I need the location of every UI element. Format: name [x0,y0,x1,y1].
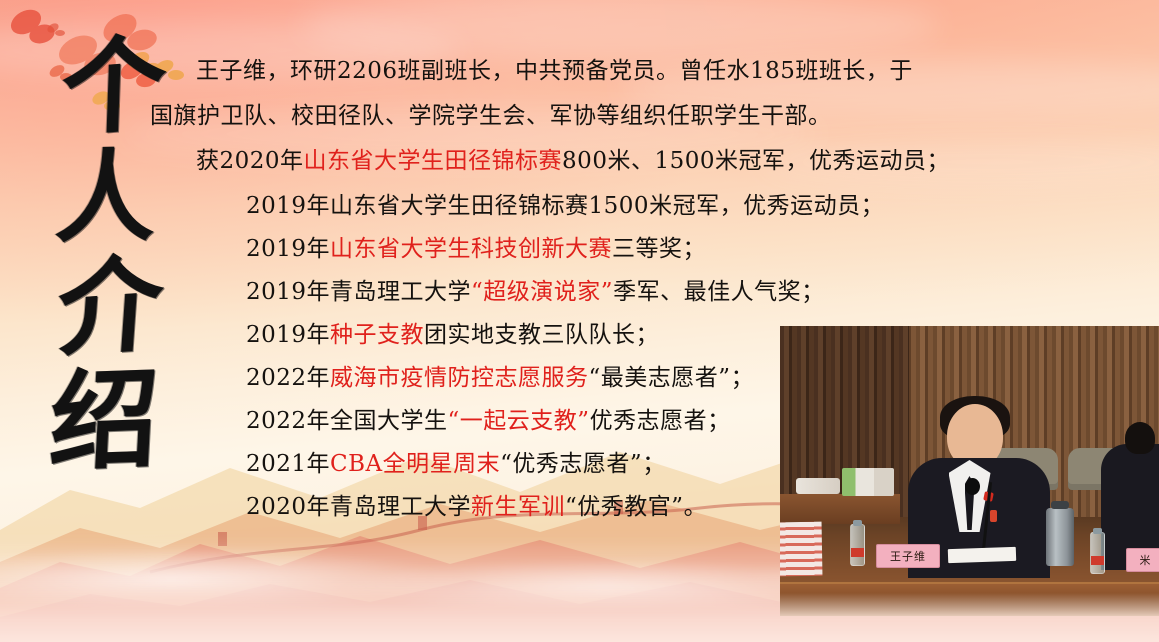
award-suffix: 三等奖； [612,236,706,262]
water-bottle [850,524,865,566]
microphone-icon [965,478,980,495]
name-plate-secondary: 米 [1126,548,1159,572]
neighbor-head [1125,422,1155,454]
award-suffix: “优秀教官”。 [565,494,707,520]
award-prefix: 2019年山东省大学生田径锦标赛1500米冠军，优秀运动员； [246,193,884,219]
award-suffix: “优秀志愿者”； [500,451,666,477]
award-prefix: 2019年青岛理工大学 [246,279,471,305]
name-plate-secondary-text: 米 [1140,552,1151,568]
papers [948,547,1016,563]
award-suffix: 季军、最佳人气奖； [613,279,825,305]
lapel-badge-icon [990,510,997,522]
award-suffix: 优秀志愿者； [590,408,731,434]
award-suffix: “最美志愿者”； [589,365,755,391]
award-highlight: “超级演说家” [471,279,613,305]
award-prefix: 获2020年 [196,148,304,174]
award-highlight: 种子支教 [330,322,424,348]
award-prefix: 2019年 [246,322,330,348]
award-highlight: 山东省大学生田径锦标赛 [304,148,563,174]
side-cabinet [780,494,900,524]
award-prefix: 2021年 [246,451,330,477]
thermos [1046,508,1074,566]
intro-line-1: 王子维，环研2206班副班长，中共预备党员。曾任水185班班长，于 [150,50,990,93]
award-line: 2019年山东省大学生科技创新大赛三等奖； [150,228,990,271]
award-highlight: 山东省大学生科技创新大赛 [330,236,612,262]
slide-canvas: 个 人 介 绍 王子维，环研2206班副班长，中共预备党员。曾任水185班班长，… [0,0,1159,642]
profile-photo: 王子维 米 [780,326,1159,616]
photo-bottom-fade [780,593,1159,616]
name-plate-text: 王子维 [890,548,926,564]
name-plate: 王子维 [876,544,940,568]
award-prefix: 2020年青岛理工大学 [246,494,471,520]
title-char: 绍 [47,364,161,478]
award-prefix: 2022年 [246,365,330,391]
award-highlight: “一起云支教” [448,408,590,434]
award-line-lead: 获2020年山东省大学生田径锦标赛800米、1500米冠军，优秀运动员； [150,140,990,183]
title-char: 人 [53,145,158,249]
award-prefix: 2019年 [246,236,330,262]
award-line: 2019年青岛理工大学“超级演说家”季军、最佳人气奖； [150,271,990,314]
cups [796,478,840,494]
award-highlight: 威海市疫情防控志愿服务 [330,365,589,391]
award-line: 2019年山东省大学生田径锦标赛1500米冠军，优秀运动员； [150,185,990,228]
water-bottle [1090,532,1105,574]
award-suffix: 团实地支教三队队长； [424,322,659,348]
award-prefix: 2022年全国大学生 [246,408,448,434]
award-suffix: 800米、1500米冠军，优秀运动员； [562,148,950,174]
award-highlight: CBA全明星周末 [330,451,500,477]
tissue-boxes [842,468,894,496]
award-highlight: 新生军训 [471,494,565,520]
intro-line-2: 国旗护卫队、校田径队、学院学生会、军协等组织任职学生干部。 [150,95,990,138]
book-stack [780,522,822,577]
